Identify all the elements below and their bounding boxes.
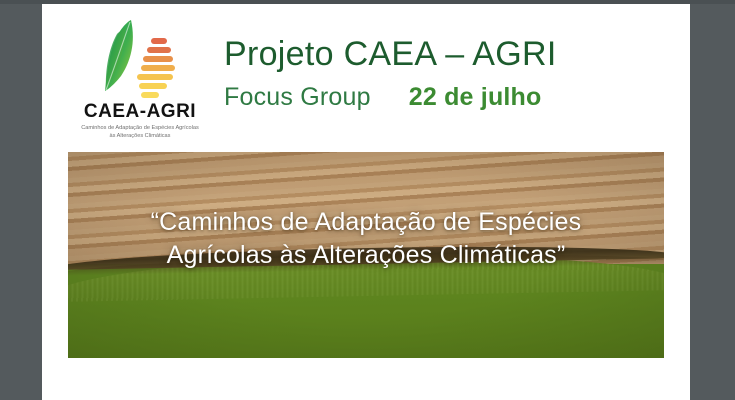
event-date: 22 de julho	[409, 83, 542, 112]
presentation-slide: CAEA-AGRI Caminhos de Adaptação de Espéc…	[42, 4, 690, 400]
logo-bar	[139, 83, 167, 89]
subtitle-row: Focus Group 22 de julho	[224, 83, 654, 112]
logo-bar	[137, 74, 173, 80]
quote-overlay: “Caminhos de Adaptação de Espécies Agríc…	[68, 206, 664, 272]
logo-bar-stack	[133, 38, 181, 100]
caea-agri-logo-block: CAEA-AGRI Caminhos de Adaptação de Espéc…	[60, 18, 220, 141]
logo-tagline-line-2: às Alterações Climáticas	[65, 132, 215, 140]
quote-line-2: Agrícolas às Alterações Climáticas”	[86, 239, 646, 272]
subtitle-focus-group: Focus Group	[224, 83, 371, 112]
quote-line-1: “Caminhos de Adaptação de Espécies	[86, 206, 646, 239]
farm-field-photo: “Caminhos de Adaptação de Espécies Agríc…	[68, 152, 664, 358]
screenshot-viewport: CAEA-AGRI Caminhos de Adaptação de Espéc…	[0, 0, 735, 400]
green-field-base	[68, 290, 664, 358]
logo-tagline: Caminhos de Adaptação de Espécies Agríco…	[65, 124, 215, 141]
logo-wordmark: CAEA-AGRI	[60, 102, 220, 122]
logo-bar	[141, 92, 159, 98]
logo-bar	[141, 65, 175, 71]
page-title: Projeto CAEA – AGRI	[224, 36, 654, 73]
logo-bar	[151, 38, 167, 44]
logo-bar	[143, 56, 173, 62]
logo-mark	[95, 18, 185, 100]
logo-bar	[147, 47, 171, 53]
heading-block: Projeto CAEA – AGRI Focus Group 22 de ju…	[224, 36, 654, 112]
logo-tagline-line-1: Caminhos de Adaptação de Espécies Agríco…	[65, 124, 215, 132]
